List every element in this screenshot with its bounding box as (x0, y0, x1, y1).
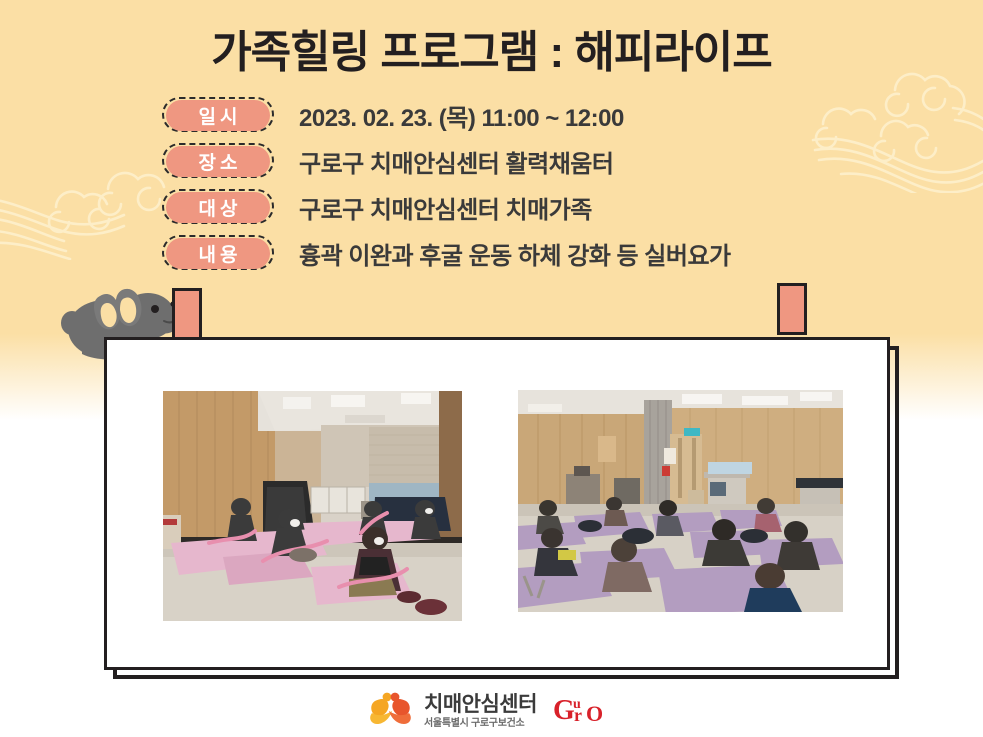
status-badge: 장소 (166, 146, 270, 177)
info-row: 대상 구로구 치매안심센터 치매가족 (166, 190, 731, 224)
guro-logo-icon: G u r O (553, 693, 615, 730)
status-badge: 내용 (166, 238, 270, 269)
salmon-tab-right (777, 283, 807, 335)
info-row: 장소 구로구 치매안심센터 활력채움터 (166, 144, 731, 178)
info-value: 흉곽 이완과 후굴 운동 하체 강화 등 실버요가 (299, 236, 731, 271)
status-badge: 일시 (166, 100, 270, 131)
badge-label: 장소 (195, 148, 242, 175)
photo-left (163, 391, 462, 621)
svg-text:G: G (553, 695, 575, 725)
info-value: 2023. 02. 23. (목) 11:00 ~ 12:00 (299, 98, 624, 133)
badge-label: 대상 (195, 194, 242, 221)
status-badge: 대상 (166, 192, 270, 223)
page-title: 가족힐링 프로그램 : 해피라이프 (0, 16, 983, 80)
logo-title: 치매안심센터 (424, 694, 537, 715)
info-value: 구로구 치매안심센터 활력채움터 (299, 144, 613, 179)
svg-text:O: O (586, 701, 603, 725)
badge-label: 일시 (195, 102, 242, 129)
photo-panel (104, 337, 890, 670)
info-list: 일시 2023. 02. 23. (목) 11:00 ~ 12:00 장소 구로… (166, 98, 731, 270)
info-row: 일시 2023. 02. 23. (목) 11:00 ~ 12:00 (166, 98, 731, 132)
info-value: 구로구 치매안심센터 치매가족 (299, 190, 592, 225)
logo-subtitle: 서울특별시 구로구보건소 (424, 719, 537, 729)
logo-text-block: 치매안심센터 서울특별시 구로구보건소 (424, 694, 537, 729)
chimae-ansim-center-figures-logo (368, 692, 414, 731)
info-row: 내용 흉곽 이완과 후굴 운동 하체 강화 등 실버요가 (166, 236, 731, 270)
svg-text:r: r (574, 705, 582, 725)
poster-canvas: 가족힐링 프로그램 : 해피라이프 일시 2023. 02. 23. (목) 1… (0, 0, 983, 737)
photo-right (518, 390, 843, 612)
footer-logo: 치매안심센터 서울특별시 구로구보건소 G u r O (0, 692, 983, 731)
salmon-tab-left (172, 288, 202, 340)
photo-gallery (107, 340, 887, 667)
badge-label: 내용 (195, 240, 242, 267)
